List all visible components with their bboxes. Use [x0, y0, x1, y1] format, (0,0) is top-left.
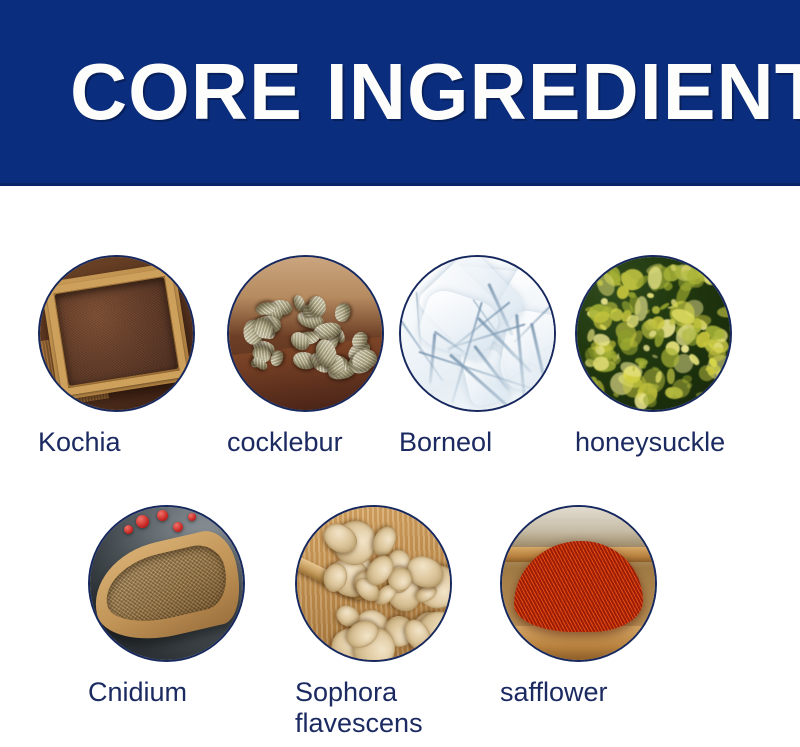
page-title: CORE INGREDIENT [70, 52, 800, 132]
ingredient-grid: Kochia cocklebur Borneol honeysuck [0, 186, 800, 747]
ingredient-image-safflower [500, 505, 657, 662]
ingredient-image-kochia [38, 255, 195, 412]
ingredient-image-cnidium [88, 505, 245, 662]
core-ingredient-page: CORE INGREDIENT Kochia cocklebur [0, 0, 800, 747]
header-banner: CORE INGREDIENT [0, 0, 800, 186]
ingredient-image-honeysuckle [575, 255, 732, 412]
ingredient-image-sophora [295, 505, 452, 662]
ingredient-image-borneol [399, 255, 556, 412]
ingredient-image-cocklebur [227, 255, 384, 412]
